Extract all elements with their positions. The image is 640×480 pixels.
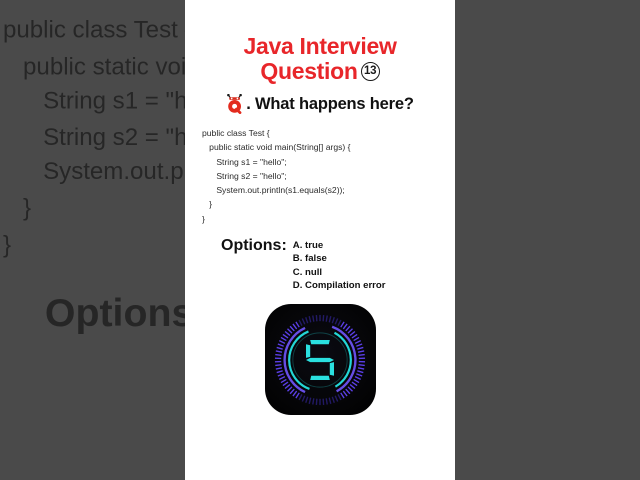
option-item-c: C. null	[293, 266, 386, 279]
timer-digit	[265, 337, 376, 383]
content-card: Java Interview Question 13	[185, 0, 455, 480]
title-block: Java Interview Question 13	[185, 0, 455, 84]
timer-wrapper	[185, 304, 455, 415]
title-line-one: Java Interview	[185, 34, 455, 59]
title-question-word: Question	[260, 59, 357, 84]
countdown-timer	[265, 304, 376, 415]
question-prompt-line: . What happens here?	[185, 94, 455, 114]
options-block: Options: A. true B. false C. null D. Com…	[185, 237, 455, 292]
option-item-b: B. false	[293, 252, 386, 265]
question-bug-icon	[226, 94, 245, 114]
options-label: Options:	[221, 237, 287, 254]
question-number-badge: 13	[361, 62, 380, 81]
option-item-d: D. Compilation error	[293, 279, 386, 292]
screenshot-root: public class Test { public static void m…	[0, 0, 640, 480]
code-snippet: public class Test { public static void m…	[185, 126, 455, 226]
question-prompt-text: . What happens here?	[246, 95, 413, 114]
option-item-a: A. true	[293, 239, 386, 252]
options-list: A. true B. false C. null D. Compilation …	[293, 239, 386, 292]
background-options-label: Options:	[0, 295, 206, 334]
title-line-two: Question 13	[185, 59, 455, 84]
